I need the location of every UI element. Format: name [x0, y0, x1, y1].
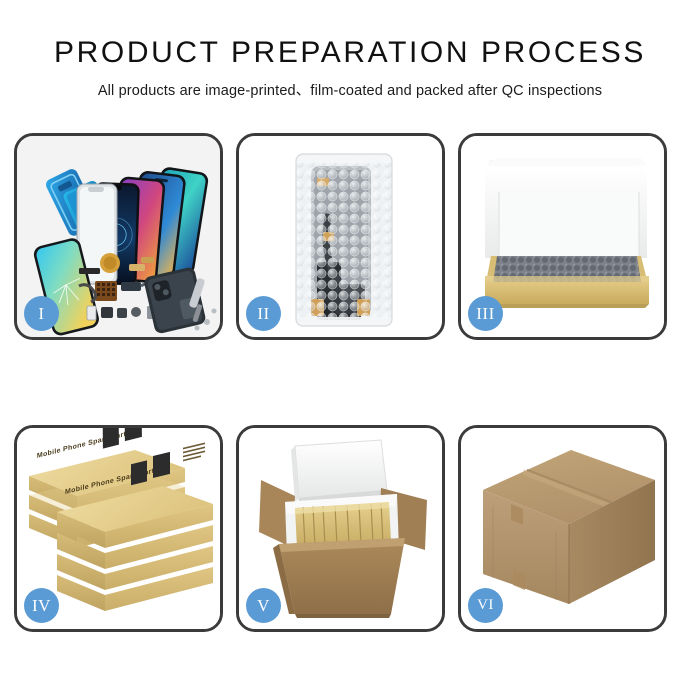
step-badge: IV	[24, 588, 59, 623]
bubble-wrap-panel: II	[236, 133, 445, 340]
step-badge: III	[468, 296, 503, 331]
white-foam-lid	[485, 158, 647, 258]
phone-parts-panel: I	[14, 133, 223, 340]
stacked-boxes-panel: Mobile Phone Spare Parts	[14, 425, 223, 632]
step-badge: V	[246, 588, 281, 623]
page-title: PRODUCT PREPARATION PROCESS	[0, 0, 700, 70]
step-badge: II	[246, 296, 281, 331]
yellow-inner-box	[485, 256, 649, 308]
step-badge: I	[24, 296, 59, 331]
sealed-carton-panel: VI	[458, 425, 667, 632]
open-inner-box-panel: III	[458, 133, 667, 340]
carton-loading-panel: V	[236, 425, 445, 632]
step-badge: VI	[468, 588, 503, 623]
kraft-carton-body	[273, 538, 405, 618]
page-subtitle: All products are image-printed、film-coat…	[0, 70, 700, 100]
product-preparation-infographic: PRODUCT PREPARATION PROCESS All products…	[0, 0, 700, 700]
process-step-grid: I	[14, 133, 686, 632]
header: PRODUCT PREPARATION PROCESS All products…	[0, 0, 700, 100]
